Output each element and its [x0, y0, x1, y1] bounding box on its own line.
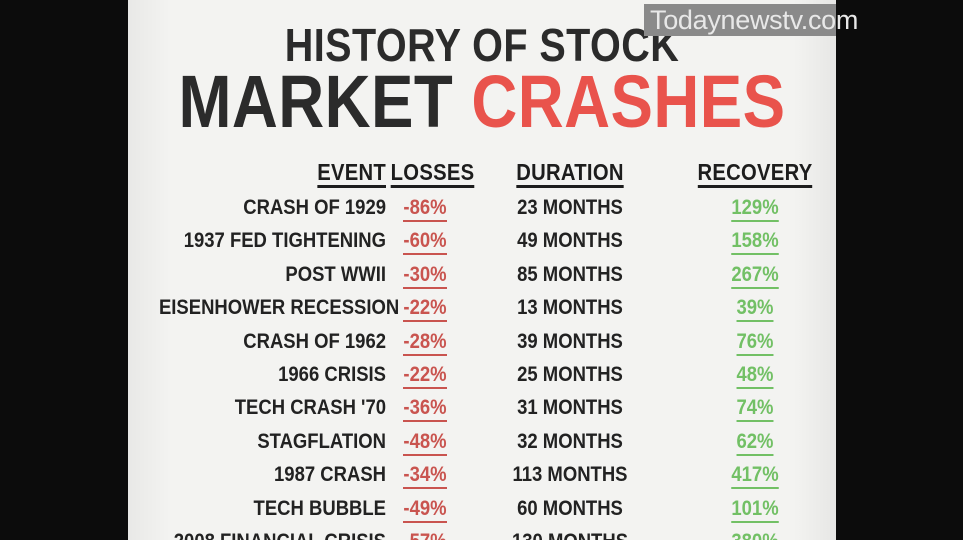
cell-recovery-value: 48%: [737, 363, 774, 389]
cell-losses: -49%: [391, 497, 460, 523]
cell-duration: 31 MONTHS: [486, 396, 655, 420]
cell-recovery: 267%: [685, 263, 824, 289]
cell-losses-value: -22%: [403, 296, 446, 322]
cell-recovery: 76%: [685, 330, 824, 356]
cell-recovery-value: 267%: [731, 263, 778, 289]
infographic-panel: HISTORY OF STOCK MARKET CRASHES EVENT LO…: [128, 0, 836, 540]
cell-recovery-value: 380%: [731, 530, 778, 540]
cell-recovery: 62%: [685, 430, 824, 456]
column-header-losses: LOSSES: [391, 160, 460, 188]
table-row: EISENHOWER RECESSION-22%13 MONTHS39%: [128, 296, 836, 329]
cell-recovery-value: 158%: [731, 229, 778, 255]
cell-recovery-value: 76%: [737, 330, 774, 356]
cell-losses-value: -48%: [403, 430, 446, 456]
screenshot-frame: HISTORY OF STOCK MARKET CRASHES EVENT LO…: [0, 0, 963, 540]
cell-event: CRASH OF 1929: [159, 196, 386, 220]
page-title-market: MARKET: [178, 60, 453, 143]
cell-event: 1987 CRASH: [159, 463, 386, 487]
cell-duration: 85 MONTHS: [486, 263, 655, 287]
cell-duration: 130 MONTHS: [486, 530, 655, 540]
table-row: 1987 CRASH-34%113 MONTHS417%: [128, 463, 836, 496]
cell-recovery-value: 62%: [737, 430, 774, 456]
cell-losses-value: -22%: [403, 363, 446, 389]
cell-losses-value: -60%: [403, 229, 446, 255]
cell-event: CRASH OF 1962: [159, 330, 386, 354]
table-row: CRASH OF 1962-28%39 MONTHS76%: [128, 330, 836, 363]
cell-recovery: 380%: [685, 530, 824, 540]
cell-recovery-value: 417%: [731, 463, 778, 489]
cell-recovery-value: 74%: [737, 396, 774, 422]
table-row: 1966 CRISIS-22%25 MONTHS48%: [128, 363, 836, 396]
cell-recovery: 129%: [685, 196, 824, 222]
cell-duration: 60 MONTHS: [486, 497, 655, 521]
cell-event: STAGFLATION: [159, 430, 386, 454]
cell-losses: -36%: [391, 396, 460, 422]
cell-event: 1966 CRISIS: [159, 363, 386, 387]
cell-losses: -57%: [391, 530, 460, 540]
cell-event: 1937 FED TIGHTENING: [159, 229, 386, 253]
cell-recovery-value: 101%: [731, 497, 778, 523]
letterbox-right: [836, 0, 963, 540]
column-header-event: EVENT: [159, 160, 386, 188]
cell-recovery: 39%: [685, 296, 824, 322]
cell-duration: 25 MONTHS: [486, 363, 655, 387]
cell-recovery: 74%: [685, 396, 824, 422]
table-row: 1937 FED TIGHTENING-60%49 MONTHS158%: [128, 229, 836, 262]
cell-recovery-value: 129%: [731, 196, 778, 222]
table-row: 2008 FINANCIAL CRISIS-57%130 MONTHS380%: [128, 530, 836, 540]
cell-losses-value: -36%: [403, 396, 446, 422]
table-row: STAGFLATION-48%32 MONTHS62%: [128, 430, 836, 463]
table-body: CRASH OF 1929-86%23 MONTHS129%1937 FED T…: [128, 196, 836, 540]
cell-losses-value: -34%: [403, 463, 446, 489]
table-row: CRASH OF 1929-86%23 MONTHS129%: [128, 196, 836, 229]
cell-duration: 32 MONTHS: [486, 430, 655, 454]
cell-event: TECH BUBBLE: [159, 497, 386, 521]
table-row: TECH CRASH '70-36%31 MONTHS74%: [128, 396, 836, 429]
page-title-line-2: MARKET CRASHES: [178, 68, 787, 136]
cell-losses-value: -49%: [403, 497, 446, 523]
cell-duration: 113 MONTHS: [486, 463, 655, 487]
cell-losses: -48%: [391, 430, 460, 456]
cell-event: POST WWII: [159, 263, 386, 287]
letterbox-left: [0, 0, 128, 540]
cell-recovery: 48%: [685, 363, 824, 389]
cell-losses: -22%: [391, 363, 460, 389]
cell-duration: 49 MONTHS: [486, 229, 655, 253]
cell-losses: -86%: [391, 196, 460, 222]
cell-duration: 39 MONTHS: [486, 330, 655, 354]
cell-recovery-value: 39%: [737, 296, 774, 322]
cell-losses: -30%: [391, 263, 460, 289]
cell-recovery: 417%: [685, 463, 824, 489]
cell-losses: -60%: [391, 229, 460, 255]
cell-event: EISENHOWER RECESSION: [159, 296, 386, 320]
column-header-recovery: RECOVERY: [685, 160, 824, 188]
cell-recovery: 101%: [685, 497, 824, 523]
cell-duration: 13 MONTHS: [486, 296, 655, 320]
cell-losses-value: -28%: [403, 330, 446, 356]
cell-recovery: 158%: [685, 229, 824, 255]
cell-losses-value: -57%: [403, 530, 446, 540]
page-title-crashes: CRASHES: [471, 60, 785, 143]
table-row: TECH BUBBLE-49%60 MONTHS101%: [128, 497, 836, 530]
cell-duration: 23 MONTHS: [486, 196, 655, 220]
column-header-duration: DURATION: [486, 160, 655, 188]
cell-event: 2008 FINANCIAL CRISIS: [159, 530, 386, 540]
cell-event: TECH CRASH '70: [159, 396, 386, 420]
table-header-row: EVENT LOSSES DURATION RECOVERY: [128, 160, 836, 196]
cell-losses-value: -86%: [403, 196, 446, 222]
table-row: POST WWII-30%85 MONTHS267%: [128, 263, 836, 296]
crash-table: EVENT LOSSES DURATION RECOVERY CRASH OF …: [128, 160, 836, 540]
cell-losses: -22%: [391, 296, 460, 322]
cell-losses-value: -30%: [403, 263, 446, 289]
watermark-text: Todaynewstv.com: [644, 4, 864, 36]
cell-losses: -34%: [391, 463, 460, 489]
cell-losses: -28%: [391, 330, 460, 356]
title-block: HISTORY OF STOCK MARKET CRASHES: [128, 24, 836, 136]
